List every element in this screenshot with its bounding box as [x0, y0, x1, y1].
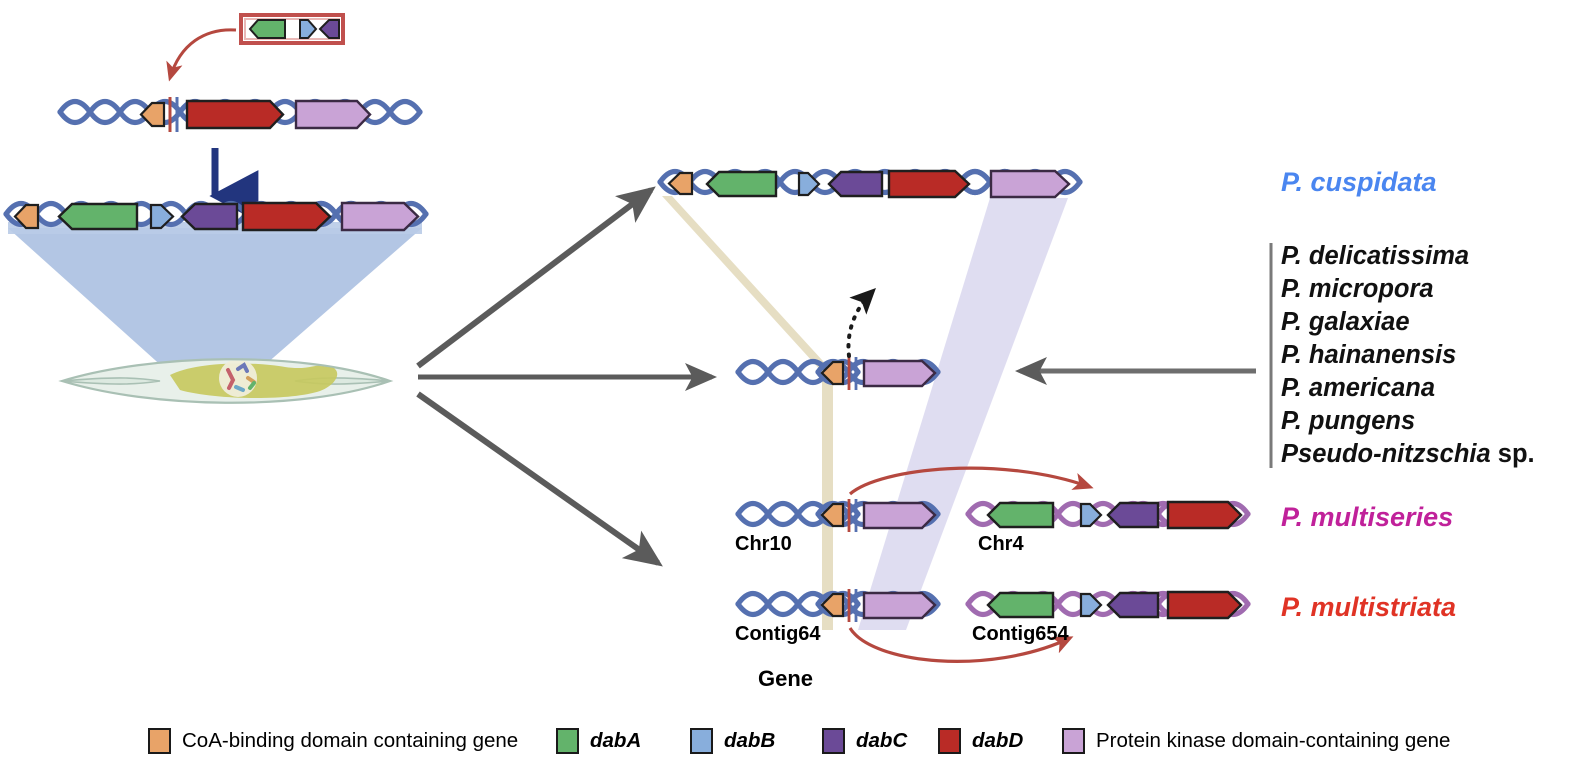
- genome-row-cuspidata: [660, 171, 1080, 197]
- legend-label: dabB: [724, 729, 775, 753]
- synteny-band-kinase: [858, 198, 1068, 630]
- gene-kinase: [991, 171, 1069, 197]
- diatom-cell: [62, 359, 390, 403]
- gene-loss-dotted-arrow: [848, 292, 872, 356]
- species-name: P. galaxiae: [1281, 308, 1410, 336]
- legend-item-dabB: dabB: [690, 728, 775, 754]
- genome-row-multistriata-contig654: [968, 592, 1248, 618]
- gene-axis-label: Gene: [758, 666, 813, 692]
- synteny-band-coa: [662, 196, 833, 630]
- legend-swatch: [556, 728, 579, 754]
- legend-swatch: [822, 728, 845, 754]
- gene-kinase: [864, 361, 935, 386]
- gene-dabA: [988, 503, 1053, 527]
- species-group-list: P. delicatissima P. micropora P. galaxia…: [1281, 240, 1570, 471]
- legend-item-kinase: Protein kinase domain-containing gene: [1062, 728, 1450, 754]
- contig-label-chr10: Chr10: [735, 533, 792, 556]
- species-label-cuspidata: P. cuspidata: [1281, 167, 1437, 198]
- cassette-gene-dabA: [250, 20, 285, 38]
- arrow-to-multi: [418, 394, 658, 563]
- genome-row-group: [738, 357, 938, 390]
- species-label-multistriata: P. multistriata: [1281, 592, 1456, 623]
- genome-row-post-insertion: [6, 203, 426, 230]
- contig-label-chr4: Chr4: [978, 533, 1024, 556]
- gene-dabD: [243, 203, 330, 230]
- gene-dabD: [187, 101, 283, 128]
- arrow-to-cuspidata: [418, 190, 651, 366]
- species-name: P. pungens: [1281, 407, 1415, 435]
- species-list-item: P. micropora: [1281, 273, 1570, 306]
- contig-label-contig64: Contig64: [735, 623, 821, 646]
- species-name: P. micropora: [1281, 275, 1434, 303]
- species-name: Pseudo-nitzschia: [1281, 440, 1491, 468]
- gene-kinase: [342, 203, 418, 230]
- legend-label: dabA: [590, 729, 641, 753]
- species-label-multiseries: P. multiseries: [1281, 502, 1453, 533]
- legend-item-dabD: dabD: [938, 728, 1023, 754]
- gene-dabC: [182, 204, 237, 229]
- species-name: P. hainanensis: [1281, 341, 1456, 369]
- legend: CoA-binding domain containing gene dabA …: [0, 722, 1570, 782]
- gene-dabC: [1108, 503, 1158, 527]
- species-list-item: P. galaxiae: [1281, 306, 1570, 339]
- gene-dabC: [1108, 593, 1158, 617]
- gene-dabC: [829, 172, 882, 196]
- legend-swatch: [690, 728, 713, 754]
- gene-dabA: [988, 593, 1053, 617]
- legend-item-dabC: dabC: [822, 728, 907, 754]
- gene-dabD: [1168, 592, 1241, 618]
- species-list-item: P. americana: [1281, 372, 1570, 405]
- legend-swatch: [1062, 728, 1085, 754]
- species-name: P. americana: [1281, 374, 1435, 402]
- zoom-cone: [8, 222, 422, 378]
- genome-row-multistriata-contig64: [738, 589, 938, 622]
- gene-kinase: [864, 593, 935, 618]
- figure-canvas: P. cuspidata P. delicatissima P. micropo…: [0, 0, 1570, 782]
- gene-kinase: [864, 503, 935, 528]
- hgt-insertion-arrow: [170, 30, 236, 78]
- gene-dabD: [1168, 502, 1241, 528]
- gene-kinase: [296, 101, 370, 128]
- legend-swatch: [938, 728, 961, 754]
- genome-row-multiseries-chr10: [738, 499, 938, 532]
- genome-row-multiseries-chr4: [968, 502, 1248, 528]
- legend-label: dabC: [856, 729, 907, 753]
- legend-swatch: [148, 728, 171, 754]
- legend-item-dabA: dabA: [556, 728, 641, 754]
- gene-dabA: [707, 172, 776, 196]
- species-list-item: P. delicatissima: [1281, 240, 1570, 273]
- legend-label: Protein kinase domain-containing gene: [1096, 729, 1450, 753]
- species-name: P. delicatissima: [1281, 242, 1469, 270]
- species-list-item: Pseudo-nitzschia sp.: [1281, 438, 1570, 471]
- translocation-arrow-multiseries: [850, 468, 1090, 494]
- legend-label: CoA-binding domain containing gene: [182, 729, 518, 753]
- gene-dabA: [59, 204, 137, 229]
- hgt-cassette: [241, 15, 343, 43]
- species-list-item: P. hainanensis: [1281, 339, 1570, 372]
- synteny-ribbons: [662, 196, 1068, 630]
- legend-label: dabD: [972, 729, 1023, 753]
- species-suffix: sp.: [1491, 440, 1535, 468]
- gene-dabD: [889, 171, 969, 197]
- legend-item-coa: CoA-binding domain containing gene: [148, 728, 518, 754]
- species-list-item: P. pungens: [1281, 405, 1570, 438]
- genome-row-ancestral: [60, 97, 420, 132]
- contig-label-contig654: Contig654: [972, 623, 1069, 646]
